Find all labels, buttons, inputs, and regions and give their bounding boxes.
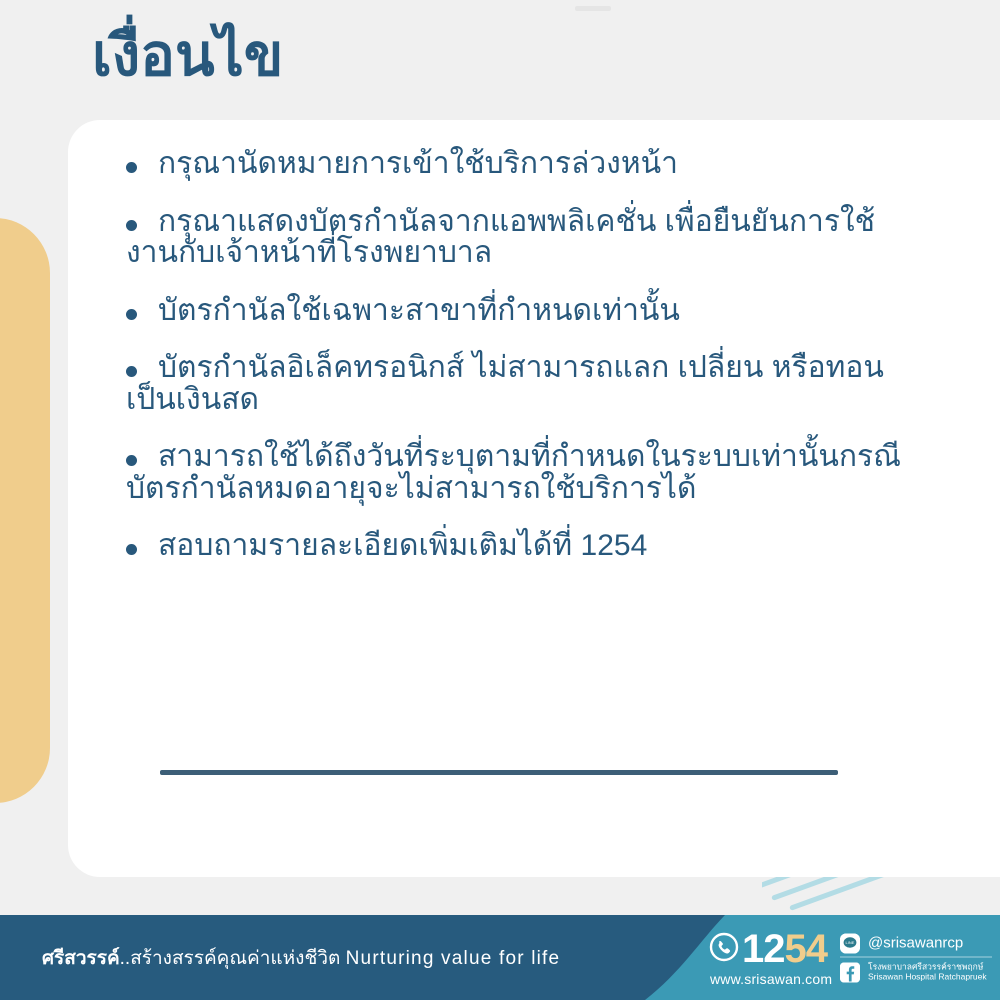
hotline-number: 1254 (742, 929, 827, 969)
facebook-name-english: Srisawan Hospital Ratchapruek (868, 972, 987, 982)
facebook-icon (840, 962, 860, 982)
list-item-text: กรุณานัดหมายการเข้าใช้บริการล่วงหน้า (126, 148, 926, 180)
page-title: เงื่อนไข (92, 24, 283, 88)
website-url[interactable]: www.srisawan.com (710, 971, 832, 987)
list-item: กรุณานัดหมายการเข้าใช้บริการล่วงหน้า (126, 148, 926, 180)
list-item: บัตรกำนัลอิเล็คทรอนิกส์ ไม่สามารถแลก เปล… (126, 352, 926, 415)
tagline-english: Nurturing value for life (346, 948, 561, 969)
list-item-text: บัตรกำนัลใช้เฉพาะสาขาที่กำหนดเท่านั้น (126, 295, 926, 327)
list-item-text: กรุณาแสดงบัตรกำนัลจากแอพพลิเคชั่น เพื่อย… (126, 206, 926, 269)
facebook-row[interactable]: โรงพยาบาลศรีสวรรค์ราชพฤกษ์ Srisawan Hosp… (840, 956, 992, 985)
line-icon: LINE (840, 933, 860, 953)
blue-stripes-decoration (762, 874, 912, 914)
hotline-suffix: 54 (785, 927, 828, 971)
hotline-block[interactable]: 1254 www.srisawan.com (708, 929, 832, 987)
list-item-text: สอบถามรายละเอียดเพิ่มเติมได้ที่ 1254 (126, 530, 926, 562)
line-handle: @srisawanrcp (868, 934, 963, 951)
gold-slab-decoration (0, 218, 50, 803)
footer-tagline: ศรีสวรรค์..สร้างสรรค์คุณค่าแห่งชีวิต Nur… (42, 943, 560, 973)
bullet-icon (126, 544, 137, 555)
poster-canvas: เงื่อนไข กรุณานัดหมายการเข้าใช้บริการล่ว… (0, 0, 1000, 1000)
bullet-icon (126, 366, 137, 377)
list-item-text: บัตรกำนัลอิเล็คทรอนิกส์ ไม่สามารถแลก เปล… (126, 352, 926, 415)
facebook-name-text: โรงพยาบาลศรีสวรรค์ราชพฤกษ์ Srisawan Hosp… (868, 962, 987, 982)
conditions-list: กรุณานัดหมายการเข้าใช้บริการล่วงหน้า กรุ… (126, 148, 926, 588)
hotline-prefix: 12 (742, 927, 785, 971)
conditions-card: กรุณานัดหมายการเข้าใช้บริการล่วงหน้า กรุ… (68, 120, 1000, 877)
line-handle-text: @srisawanrcp (868, 934, 963, 951)
bullet-icon (126, 220, 137, 231)
footer-bar: ศรีสวรรค์..สร้างสรรค์คุณค่าแห่งชีวิต Nur… (0, 915, 1000, 1000)
social-block: LINE @srisawanrcp โรงพยาบาลศรีสวรรค์ราชพ… (840, 930, 992, 985)
list-item: สามารถใช้ได้ถึงวันที่ระบุตามที่กำหนดในระ… (126, 441, 926, 504)
top-artifact (575, 6, 611, 11)
bullet-icon (126, 309, 137, 320)
list-item-text: สามารถใช้ได้ถึงวันที่ระบุตามที่กำหนดในระ… (126, 441, 926, 504)
svg-text:LINE: LINE (846, 940, 855, 945)
bullet-icon (126, 455, 137, 466)
list-item: กรุณาแสดงบัตรกำนัลจากแอพพลิเคชั่น เพื่อย… (126, 206, 926, 269)
list-item: บัตรกำนัลใช้เฉพาะสาขาที่กำหนดเท่านั้น (126, 295, 926, 327)
brand-name: ศรีสวรรค์ (42, 948, 120, 969)
phone-icon (708, 931, 740, 967)
card-divider (160, 770, 838, 775)
bullet-icon (126, 162, 137, 173)
hotline-row: 1254 (708, 929, 832, 969)
list-item: สอบถามรายละเอียดเพิ่มเติมได้ที่ 1254 (126, 530, 926, 562)
tagline-thai: ..สร้างสรรค์คุณค่าแห่งชีวิต (120, 948, 341, 969)
line-row[interactable]: LINE @srisawanrcp (840, 930, 992, 956)
